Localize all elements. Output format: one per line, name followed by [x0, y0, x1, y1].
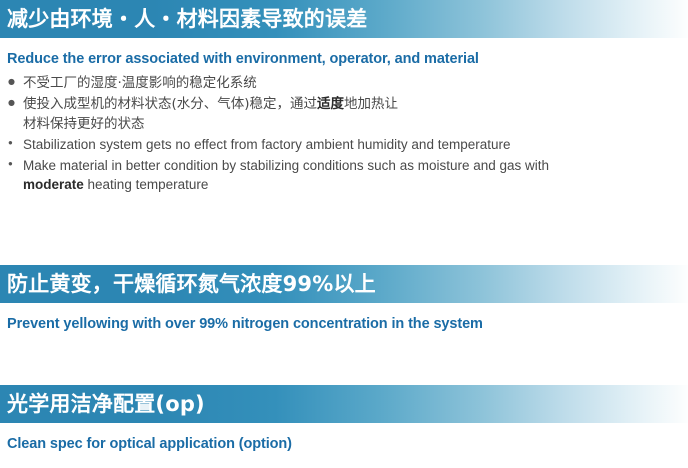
section-subheading-en: Clean spec for optical application (opti… [7, 423, 688, 459]
bullet-text-emphasis: moderate [23, 177, 84, 192]
bullet-text: 地加热让 [344, 96, 398, 112]
bullet-list: 不受工厂的湿度·温度影响的稳定化系统 使投入成型机的材料状态(水分、气体)稳定，… [7, 74, 688, 194]
bullet-text: Make material in better condition by sta… [23, 158, 549, 173]
section-clean-spec: 光学用洁净配置(op) Clean spec for optical appli… [0, 385, 688, 459]
bullet-text-line2: 材料保持更好的状态 [23, 115, 688, 135]
bullet-text-line2: moderate heating temperature [23, 175, 688, 195]
bullet-item: 使投入成型机的材料状态(水分、气体)稳定，通过适度地加热让 材料保持更好的状态 [7, 95, 688, 134]
section-title-cjk: 防止黄变，干燥循环氮气浓度99%以上 [0, 274, 376, 295]
section-title-cjk: 光学用洁净配置(op) [0, 394, 205, 415]
bullet-item: Stabilization system gets no effect from… [7, 135, 688, 155]
bullet-text: heating temperature [84, 177, 209, 192]
bullet-text: 使投入成型机的材料状态(水分、气体)稳定，通过 [23, 96, 317, 112]
section-title-bar: 减少由环境・人・材料因素导致的误差 [0, 0, 688, 38]
section-prevent-yellowing: 防止黄变，干燥循环氮气浓度99%以上 Prevent yellowing wit… [0, 265, 688, 339]
slide-page: 减少由环境・人・材料因素导致的误差 Reduce the error assoc… [0, 0, 688, 468]
bullet-item: Make material in better condition by sta… [7, 156, 688, 195]
section-subheading-en: Reduce the error associated with environ… [7, 38, 688, 74]
section-title-bar: 防止黄变，干燥循环氮气浓度99%以上 [0, 265, 688, 303]
bullet-text: Stabilization system gets no effect from… [23, 137, 510, 152]
bullet-text: 不受工厂的湿度·温度影响的稳定化系统 [23, 75, 257, 91]
section-reduce-error: 减少由环境・人・材料因素导致的误差 Reduce the error assoc… [0, 0, 688, 196]
bullet-item: 不受工厂的湿度·温度影响的稳定化系统 [7, 74, 688, 94]
section-subheading-en: Prevent yellowing with over 99% nitrogen… [7, 303, 688, 339]
section-title-cjk: 减少由环境・人・材料因素导致的误差 [0, 9, 367, 30]
bullet-text-emphasis: 适度 [317, 96, 344, 112]
section-body: Prevent yellowing with over 99% nitrogen… [0, 303, 688, 339]
section-body: Clean spec for optical application (opti… [0, 423, 688, 459]
section-title-bar: 光学用洁净配置(op) [0, 385, 688, 423]
section-body: Reduce the error associated with environ… [0, 38, 688, 195]
